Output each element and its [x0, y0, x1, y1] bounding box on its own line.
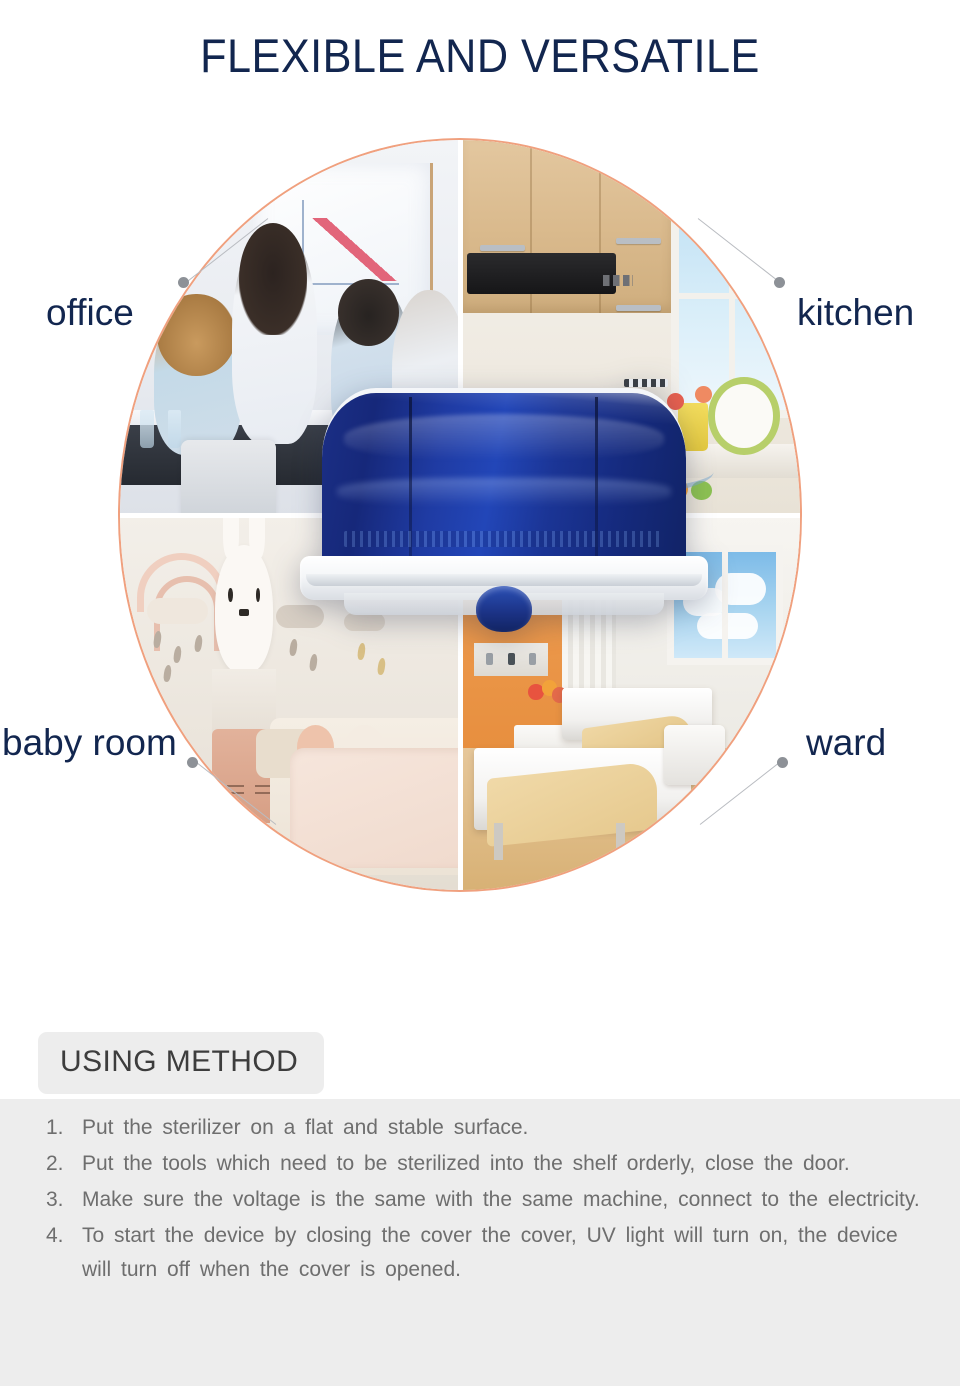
callout-dot-baby-room: [187, 757, 198, 768]
method-step-number: 1.: [46, 1111, 82, 1145]
using-method-heading: USING METHOD: [38, 1032, 324, 1094]
method-step: 1. Put the sterilizer on a flat and stab…: [46, 1111, 926, 1145]
cabinet-handle: [480, 245, 524, 251]
ward-bed-leg: [616, 823, 625, 861]
ward-headwall-panel: [474, 643, 549, 677]
page-title: FLEXIBLE AND VERSATILE: [38, 28, 921, 83]
using-method-panel: 1. Put the sterilizer on a flat and stab…: [0, 1099, 960, 1386]
office-person-hair: [157, 294, 235, 377]
office-glass: [140, 410, 154, 448]
method-step-number: 2.: [46, 1147, 82, 1181]
callout-dot-office: [178, 277, 189, 288]
method-step-number: 3.: [46, 1183, 82, 1217]
callout-label-ward: ward: [806, 722, 886, 764]
baby-blanket: [290, 748, 460, 868]
method-step: 3. Make sure the voltage is the same wit…: [46, 1183, 926, 1217]
cabinet-handle: [616, 305, 660, 311]
ward-bed-rail: [664, 725, 725, 785]
method-step-text: Make sure the voltage is the same with t…: [82, 1183, 926, 1217]
method-step-text: Put the tools which need to be sterilize…: [82, 1147, 926, 1181]
office-chart-icon: [302, 200, 399, 285]
baby-cloud-decor: [147, 598, 208, 624]
method-step-number: 4.: [46, 1219, 82, 1253]
method-step: 2. Put the tools which need to be steril…: [46, 1147, 926, 1181]
office-chair: [181, 440, 276, 515]
ward-bed-leg: [494, 823, 503, 861]
baby-lamp-stand: [212, 669, 277, 737]
method-step: 4. To start the device by closing the co…: [46, 1219, 926, 1287]
office-glass: [168, 410, 182, 448]
product-uv-sterilizer: [300, 388, 708, 618]
cabinet-handle: [616, 238, 660, 244]
using-method-list: 1. Put the sterilizer on a flat and stab…: [46, 1111, 926, 1289]
office-person-hair: [239, 223, 307, 336]
baby-bunny-lamp: [215, 545, 273, 673]
range-hood-buttons: [603, 275, 634, 286]
method-step-text: To start the device by closing the cover…: [82, 1219, 926, 1287]
callout-label-kitchen: kitchen: [797, 292, 914, 334]
callout-label-office: office: [46, 292, 134, 334]
office-person-hair: [338, 279, 399, 347]
callout-label-baby-room: baby room: [2, 722, 177, 764]
sterilizer-handle: [476, 586, 532, 632]
kitchen-plate: [708, 377, 780, 455]
sterilizer-cover: [322, 388, 686, 570]
sterilizer-vents: [624, 379, 668, 387]
sterilizer-base-lip: [306, 574, 702, 586]
kitchen-range-hood: [467, 253, 617, 294]
callout-dot-kitchen: [774, 277, 785, 288]
callout-dot-ward: [777, 757, 788, 768]
method-step-text: Put the sterilizer on a flat and stable …: [82, 1111, 926, 1145]
sterilizer-shelf: [344, 531, 664, 547]
